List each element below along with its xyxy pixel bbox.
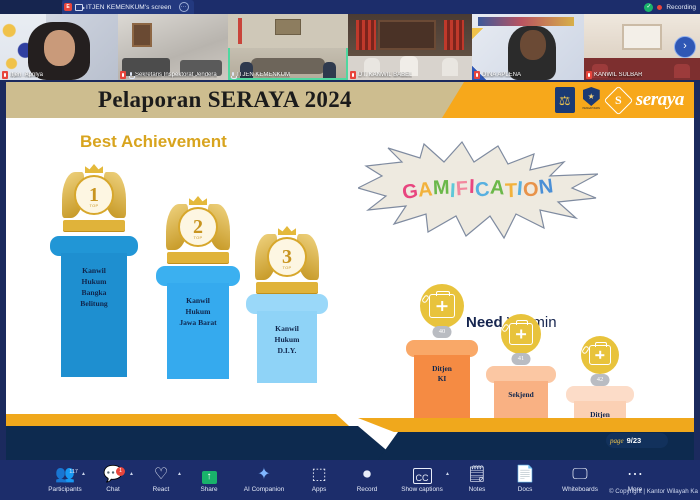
podium-rank-2: 2 TOP KanwilHukumJawa Barat	[156, 266, 240, 379]
toolbar-chat-button[interactable]: 💬 1 ▲ Chat	[89, 460, 137, 500]
participant-face	[44, 30, 75, 66]
toolbar-react-button[interactable]: ♡ ▲ React	[137, 460, 185, 500]
gamification-letter: F	[455, 178, 469, 202]
rank-sub-label: TOP	[193, 235, 202, 240]
pill-bottle-icon	[509, 323, 533, 345]
toolbar-label: AI Companion	[244, 486, 285, 493]
gamification-letter: M	[432, 177, 450, 201]
more-dots-icon[interactable]: ···	[179, 2, 189, 12]
recording-label: Recording	[666, 4, 696, 11]
toolbar-participants-button[interactable]: 👥 117 ▲ Participants	[41, 460, 89, 500]
toolbar-apps-button[interactable]: ⬚ Apps	[295, 460, 343, 500]
podium-label-3: KanwilHukumD.I.Y.	[257, 323, 317, 356]
share-label: ITJEN KEMENKUM's screen	[86, 4, 172, 11]
shield-check-icon[interactable]: ✓	[644, 3, 653, 12]
toolbar-label: Notes	[469, 486, 486, 493]
pill-bottle-icon	[429, 294, 455, 318]
vitamin-coin-3	[581, 336, 619, 374]
participant-face	[520, 30, 546, 60]
chevron-up-icon[interactable]: ▲	[129, 471, 134, 477]
backdrop-banner	[378, 20, 436, 50]
pengayoman-logo: ★PENGAYOMAN	[582, 87, 601, 113]
crown-icon	[278, 226, 296, 235]
slide-body: Best Achievement 1 TOP KanwilHukumBangka…	[6, 118, 694, 460]
toolbar-ai-companion-button[interactable]: ✦ AI Companion	[233, 460, 295, 500]
page-word: page	[610, 437, 624, 445]
participant-name: DINA APLENA	[482, 72, 521, 78]
whiteboard-icon: 🖵	[572, 468, 587, 484]
gamification-letter: A	[489, 177, 506, 201]
record-icon: ⏺	[363, 468, 371, 484]
participant-name-tag: Itjen_Aprilya	[2, 71, 43, 79]
rank-medal-3: 3 TOP	[267, 237, 307, 277]
gamification-letter: A	[417, 178, 434, 202]
toolbar-label: Apps	[312, 486, 327, 493]
chevron-up-icon[interactable]: ▲	[177, 471, 182, 477]
react-heart-icon: ♡	[154, 468, 168, 484]
vitamin-rank-chip-2: 41	[512, 353, 531, 365]
mic-muted-icon	[586, 71, 592, 79]
next-participants-page-button[interactable]: ›	[674, 36, 696, 58]
participant-name: Sekretaris Inspektorat Jendera	[135, 72, 217, 78]
chat-unread-badge: 1	[116, 467, 125, 476]
vitamin-rank-chip-1: 40	[433, 326, 452, 338]
crown-icon	[189, 196, 207, 205]
top-bar-left-spacer	[0, 0, 62, 14]
vitamin-rank-chip-3: 42	[591, 374, 610, 386]
mic-muted-icon	[350, 71, 356, 79]
toolbar-label: React	[153, 486, 170, 493]
gamification-letter: N	[538, 175, 556, 200]
flag	[238, 18, 242, 44]
participant-tile[interactable]: Sekretaris Inspektorat Jendera	[118, 14, 228, 80]
chair	[674, 64, 690, 78]
top-bar-status-group: ✓ Recording	[644, 3, 700, 12]
flag-row	[356, 20, 376, 50]
participant-name: Itjen_Aprilya	[10, 72, 43, 78]
participant-name-tag: Sekretaris Inspektorat Jendera	[120, 71, 217, 79]
toolbar-whiteboards-button[interactable]: 🖵 Whiteboards	[549, 460, 611, 500]
seraya-wordmark: seraya	[636, 89, 684, 111]
page-indicator: page 9/23	[606, 433, 668, 448]
podium-column: KanwilHukumJawa Barat	[167, 283, 229, 379]
participant-name-tag: KANWIL SULBAR	[586, 71, 642, 79]
chevron-up-icon[interactable]: ▲	[445, 471, 450, 477]
rank-number: 1	[89, 185, 99, 205]
podium-label-1: KanwilHukumBangkaBelitung	[61, 265, 127, 309]
trophy-wreath-1: 1 TOP	[56, 162, 132, 236]
slide-header-logo-bar: ⚖ ★PENGAYOMAN S seraya	[442, 82, 694, 118]
ai-sparkle-icon: ✦	[257, 468, 270, 484]
best-achievement-heading: Best Achievement	[80, 132, 227, 152]
share-screen-icon: ↑	[202, 468, 217, 484]
virtual-background-banner	[478, 17, 574, 26]
screen-share-indicator[interactable]: E ITJEN KEMENKUM's screen ···	[62, 0, 194, 14]
kemenkum-logo: ⚖	[555, 87, 575, 113]
mic-icon	[230, 71, 235, 79]
participant-name-tag: ITJEN KEMENKUM	[230, 71, 290, 79]
slide-footer-bands	[6, 404, 694, 460]
more-dots-icon: ⋯	[627, 468, 643, 484]
shared-screen-slide: Pelaporan SERAYA 2024 ⚖ ★PENGAYOMAN S se…	[6, 82, 694, 460]
rank-sub-label: TOP	[89, 203, 98, 208]
room-emblem	[275, 19, 301, 35]
podium-label-2: KanwilHukumJawa Barat	[167, 295, 229, 328]
participant-name: ITJEN KEMENKUM	[237, 72, 290, 78]
recording-dot-icon	[657, 5, 662, 10]
ribbon-banner	[167, 252, 229, 263]
vitamin-label-2: Sekjend	[494, 390, 548, 400]
toolbar-label: Record	[357, 486, 378, 493]
participants-count: 117	[69, 469, 78, 475]
toolbar-docs-button[interactable]: 📄 Docs	[501, 460, 549, 500]
wall-portrait	[132, 23, 152, 47]
slide-title: Pelaporan SERAYA 2024	[98, 87, 352, 113]
mic-muted-icon	[474, 71, 480, 79]
participant-name-tag: DT. KANWIL BABEL	[350, 71, 412, 79]
vitamin-label-1: DitjenKI	[414, 364, 470, 385]
toolbar-label: Participants	[48, 486, 81, 493]
camera-icon	[75, 4, 83, 11]
captions-icon: CC	[413, 468, 432, 484]
vitamin-coin-2	[501, 314, 541, 354]
pill-bottle-icon	[589, 345, 612, 366]
toolbar-notes-button[interactable]: 🗒 Notes	[453, 460, 501, 500]
trophy-wreath-2: 2 TOP	[160, 194, 236, 268]
docs-icon: 📄	[515, 468, 535, 484]
chevron-up-icon[interactable]: ▲	[81, 471, 86, 477]
rank-number: 2	[193, 217, 203, 237]
toolbar-record-button[interactable]: ⏺ Record	[343, 460, 391, 500]
mic-muted-icon	[2, 71, 8, 79]
rank-number: 3	[282, 247, 292, 267]
page-number: 9/23	[627, 436, 642, 445]
podium-column: KanwilHukumBangkaBelitung	[61, 253, 127, 377]
toolbar-label: Whiteboards	[562, 486, 598, 493]
ribbon-banner	[63, 220, 125, 231]
podium-rank-3: 3 TOP KanwilHukumD.I.Y.	[246, 294, 328, 383]
participant-name-tag: DINA APLENA	[474, 71, 521, 79]
rank-sub-label: TOP	[282, 265, 291, 270]
seraya-diamond-logo: S	[603, 85, 633, 115]
trophy-wreath-3: 3 TOP	[249, 224, 325, 298]
zoom-meeting-toolbar: 👥 117 ▲ Participants 💬 1 ▲ Chat ♡ ▲ Reac…	[0, 460, 700, 500]
rank-medal-2: 2 TOP	[178, 207, 218, 247]
apps-icon: ⬚	[311, 468, 326, 484]
attendee	[323, 62, 336, 78]
crown-icon	[85, 164, 103, 173]
vitamin-coin-1	[420, 284, 464, 328]
participant-tile[interactable]: Itjen_Aprilya	[0, 14, 118, 80]
toolbar-label: Chat	[106, 486, 120, 493]
rank-medal-1: 1 TOP	[74, 175, 114, 215]
copyright-watermark: © Copyright | Kantor Wilayah Ka	[609, 488, 698, 495]
toolbar-share-button[interactable]: ↑ Share	[185, 460, 233, 500]
notes-icon: 🗒	[467, 468, 487, 484]
zoom-top-bar: E ITJEN KEMENKUM's screen ··· ✓ Recordin…	[0, 0, 700, 14]
attendee	[442, 58, 458, 76]
slide-header: Pelaporan SERAYA 2024 ⚖ ★PENGAYOMAN S se…	[6, 82, 694, 118]
gamification-word: GAMIFICATION	[358, 178, 598, 201]
participant-thumbnail-strip[interactable]: Itjen_Aprilya Sekretaris Inspektorat Jen…	[0, 14, 700, 80]
mic-icon	[128, 71, 133, 79]
share-app-badge: E	[64, 3, 72, 11]
need-word: Need	[466, 314, 503, 331]
toolbar-captions-button[interactable]: CC ▲ Show captions	[391, 460, 453, 500]
ribbon-banner	[256, 282, 318, 293]
podium-column: KanwilHukumD.I.Y.	[257, 311, 317, 383]
participant-tile[interactable]: DINA APLENA	[472, 14, 584, 80]
participant-tile[interactable]: DT. KANWIL BABEL	[348, 14, 472, 80]
wall-emblem	[622, 24, 662, 50]
gamification-starburst: GAMIFICATION	[358, 140, 598, 246]
flag-row	[444, 20, 464, 50]
podium-rank-1: 1 TOP KanwilHukumBangkaBelitung	[50, 236, 138, 377]
participant-name: KANWIL SULBAR	[594, 72, 642, 78]
toolbar-label: Show captions	[401, 486, 443, 493]
participant-tile-active[interactable]: ITJEN KEMENKUM	[228, 14, 348, 80]
toolbar-label: Share	[200, 486, 217, 493]
toolbar-label: Docs	[518, 486, 533, 493]
mic-muted-icon	[120, 71, 126, 79]
participant-name: DT. KANWIL BABEL	[358, 72, 412, 78]
